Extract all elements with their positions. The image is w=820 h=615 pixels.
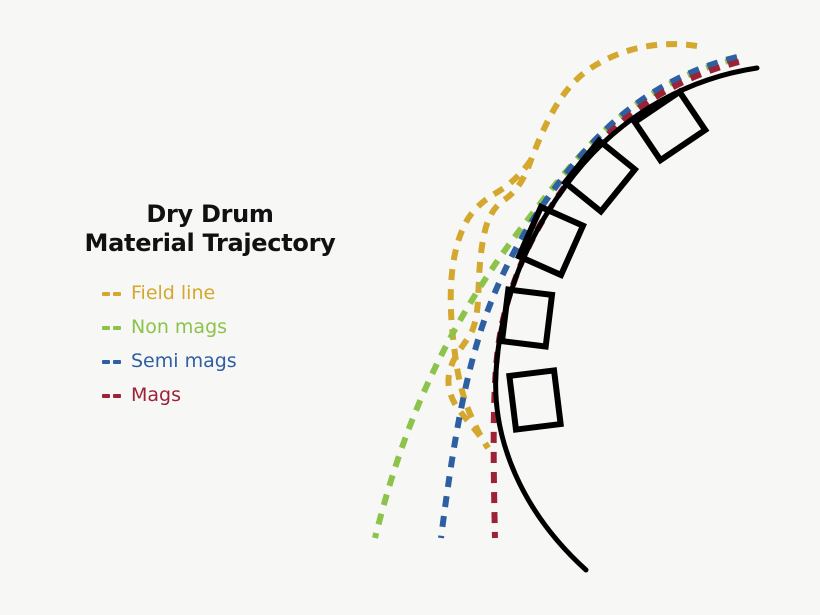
diagram-canvas: Dry Drum Material Trajectory Field lineN… bbox=[0, 0, 820, 615]
legend-label-semi-mags: Semi mags bbox=[131, 352, 237, 371]
legend-swatch-non-mags bbox=[102, 320, 124, 336]
page-title: Dry Drum Material Trajectory bbox=[60, 200, 360, 259]
legend-label-non-mags: Non mags bbox=[131, 318, 227, 337]
magnet-block-5 bbox=[509, 370, 560, 429]
legend-label-mags: Mags bbox=[131, 386, 181, 405]
legend-label-field-line: Field line bbox=[131, 284, 215, 303]
legend-item-mags: Mags bbox=[102, 379, 360, 413]
legend-swatch-field-line bbox=[102, 286, 124, 302]
magnet-block-4 bbox=[502, 290, 552, 347]
trajectories-group bbox=[375, 44, 739, 538]
legend-swatch-mags bbox=[102, 388, 124, 404]
legend-item-field-line: Field line bbox=[102, 277, 360, 311]
non-mags-trajectory bbox=[375, 59, 736, 538]
semi-mags-trajectory bbox=[441, 57, 737, 538]
legend-swatch-semi-mags bbox=[102, 354, 124, 370]
legend-item-semi-mags: Semi mags bbox=[102, 345, 360, 379]
legend-panel: Dry Drum Material Trajectory Field lineN… bbox=[60, 200, 360, 413]
title-line-2: Material Trajectory bbox=[60, 229, 360, 258]
legend-item-non-mags: Non mags bbox=[102, 311, 360, 345]
magnet-blocks-group bbox=[502, 92, 705, 430]
title-line-1: Dry Drum bbox=[60, 200, 360, 229]
legend-list: Field lineNon magsSemi magsMags bbox=[60, 277, 360, 413]
